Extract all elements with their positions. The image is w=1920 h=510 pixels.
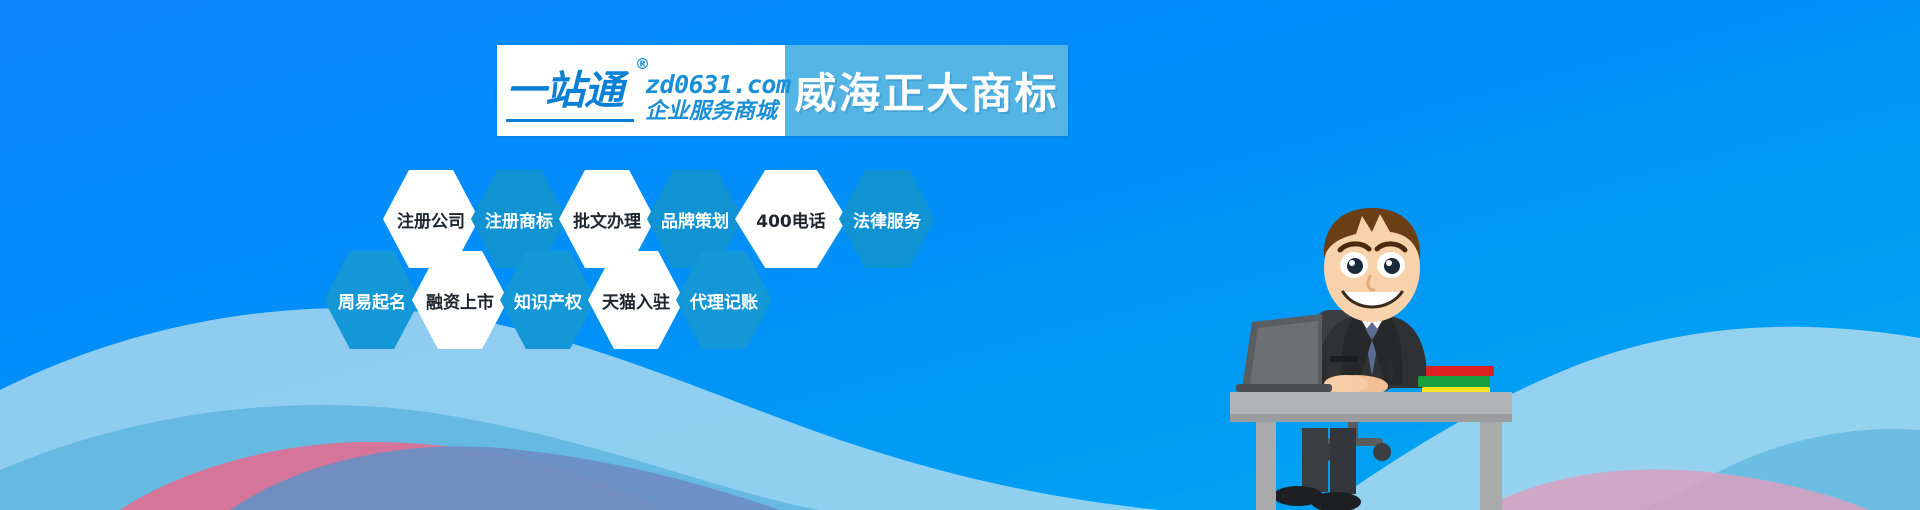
service-hex-tmall-onboarding[interactable]: 天猫入驻 bbox=[588, 251, 684, 349]
brand-logo-box: 一站通 ® zd0631.com 企业服务商城 bbox=[497, 45, 785, 136]
promo-banner: 一站通 ® zd0631.com 企业服务商城 威海正大商标 注册公司 注册商标… bbox=[0, 0, 1920, 510]
service-hex-agency-bookkeeping[interactable]: 代理记账 bbox=[676, 251, 772, 349]
service-label: 400电话 bbox=[756, 207, 826, 232]
service-hex-legal-service[interactable]: 法律服务 bbox=[839, 170, 935, 268]
brand-underline bbox=[506, 119, 634, 122]
service-label: 品牌策划 bbox=[661, 207, 729, 232]
brand-domain-text: zd0631.com bbox=[645, 71, 791, 98]
brand-main-text: 一站通 bbox=[506, 69, 623, 113]
service-hex-intellectual-property[interactable]: 知识产权 bbox=[500, 251, 596, 349]
company-name-text: 威海正大商标 bbox=[794, 60, 1058, 121]
businessman-head bbox=[1324, 208, 1420, 322]
company-name-panel: 威海正大商标 bbox=[785, 45, 1068, 136]
brand-tagline-text: 企业服务商城 bbox=[645, 100, 777, 124]
service-label: 周易起名 bbox=[338, 288, 406, 313]
service-label: 注册公司 bbox=[397, 207, 465, 232]
businessman-illustration bbox=[1230, 180, 1560, 510]
laptop-icon bbox=[1236, 314, 1332, 392]
businessman-legs bbox=[1273, 428, 1361, 510]
service-label: 知识产权 bbox=[514, 288, 582, 313]
service-label: 注册商标 bbox=[485, 207, 553, 232]
desk-icon bbox=[1230, 392, 1512, 510]
service-label: 批文办理 bbox=[573, 207, 641, 232]
brand-logo-bar: 一站通 ® zd0631.com 企业服务商城 威海正大商标 bbox=[497, 45, 1068, 136]
service-label: 代理记账 bbox=[690, 288, 758, 313]
service-label: 法律服务 bbox=[853, 207, 921, 232]
service-hex-financing-ipo[interactable]: 融资上市 bbox=[412, 251, 508, 349]
service-label: 天猫入驻 bbox=[602, 288, 670, 313]
service-hex-zhouyi-naming[interactable]: 周易起名 bbox=[324, 251, 420, 349]
service-hex-row-2: 周易起名 融资上市 知识产权 天猫入驻 代理记账 bbox=[324, 251, 764, 349]
service-label: 融资上市 bbox=[426, 288, 494, 313]
